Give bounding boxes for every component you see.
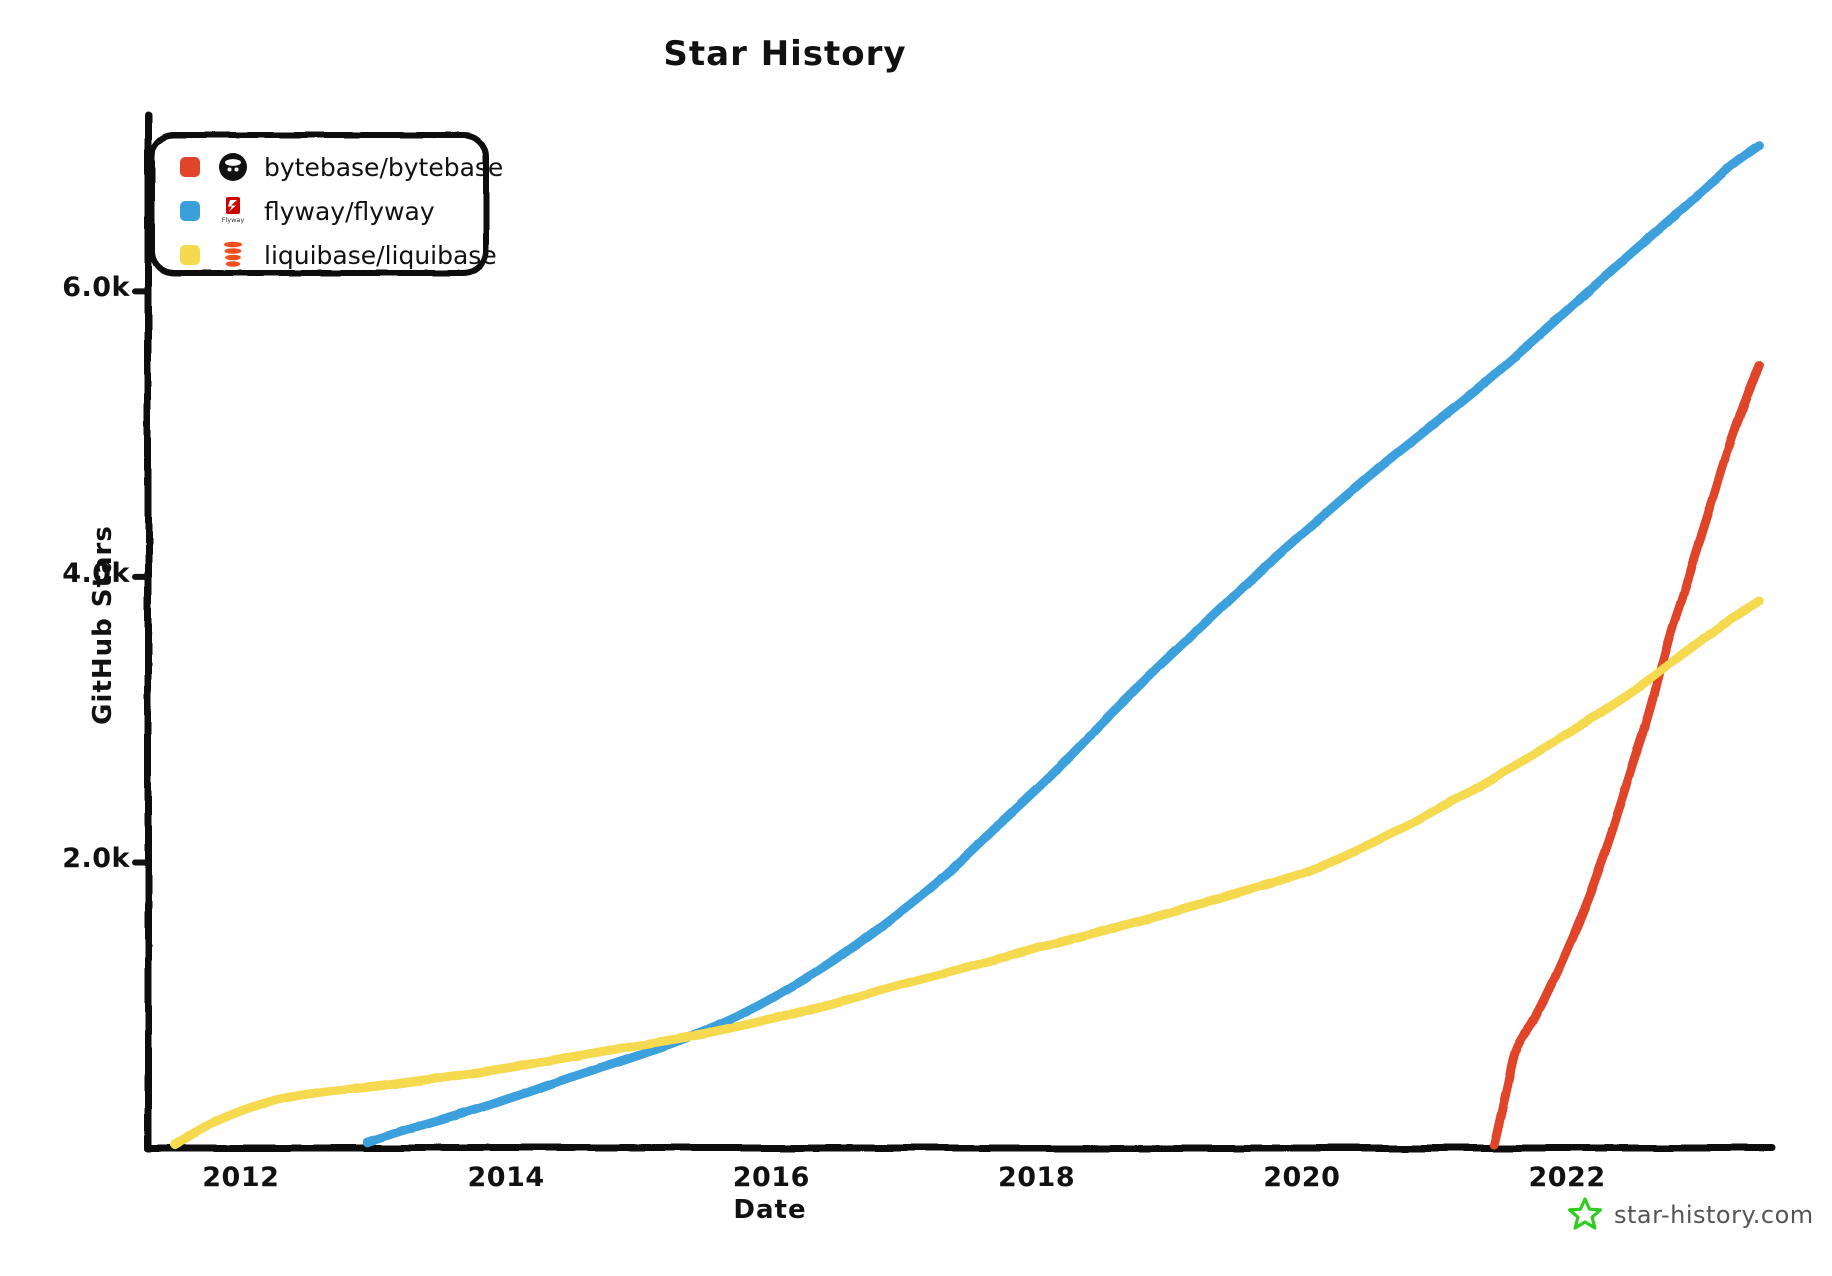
series-line-liquibase [175, 601, 1760, 1145]
flyway-logo-icon: Flyway [218, 196, 248, 226]
watermark-text: star-history.com [1614, 1201, 1814, 1229]
legend-color-swatch [180, 245, 200, 265]
legend[interactable]: bytebase/bytebaseFlywayflyway/flywayliqu… [150, 133, 488, 273]
legend-color-swatch [180, 201, 200, 221]
legend-item-label: liquibase/liquibase [264, 241, 497, 270]
legend-item[interactable]: liquibase/liquibase [180, 235, 503, 275]
star-history-chart: Star History GitHub Stars Date 2.0k4.0k6… [0, 0, 1832, 1276]
bytebase-logo-icon [218, 152, 248, 182]
legend-item[interactable]: bytebase/bytebase [180, 147, 503, 187]
watermark[interactable]: star-history.com [1568, 1196, 1814, 1234]
legend-color-swatch [180, 157, 200, 177]
legend-item-label: flyway/flyway [264, 197, 435, 226]
svg-text:Flyway: Flyway [222, 216, 245, 224]
liquibase-logo-icon [218, 240, 248, 270]
legend-item[interactable]: Flywayflyway/flyway [180, 191, 503, 231]
legend-item-label: bytebase/bytebase [264, 153, 503, 182]
series-lines [175, 146, 1760, 1145]
star-icon [1568, 1196, 1602, 1234]
